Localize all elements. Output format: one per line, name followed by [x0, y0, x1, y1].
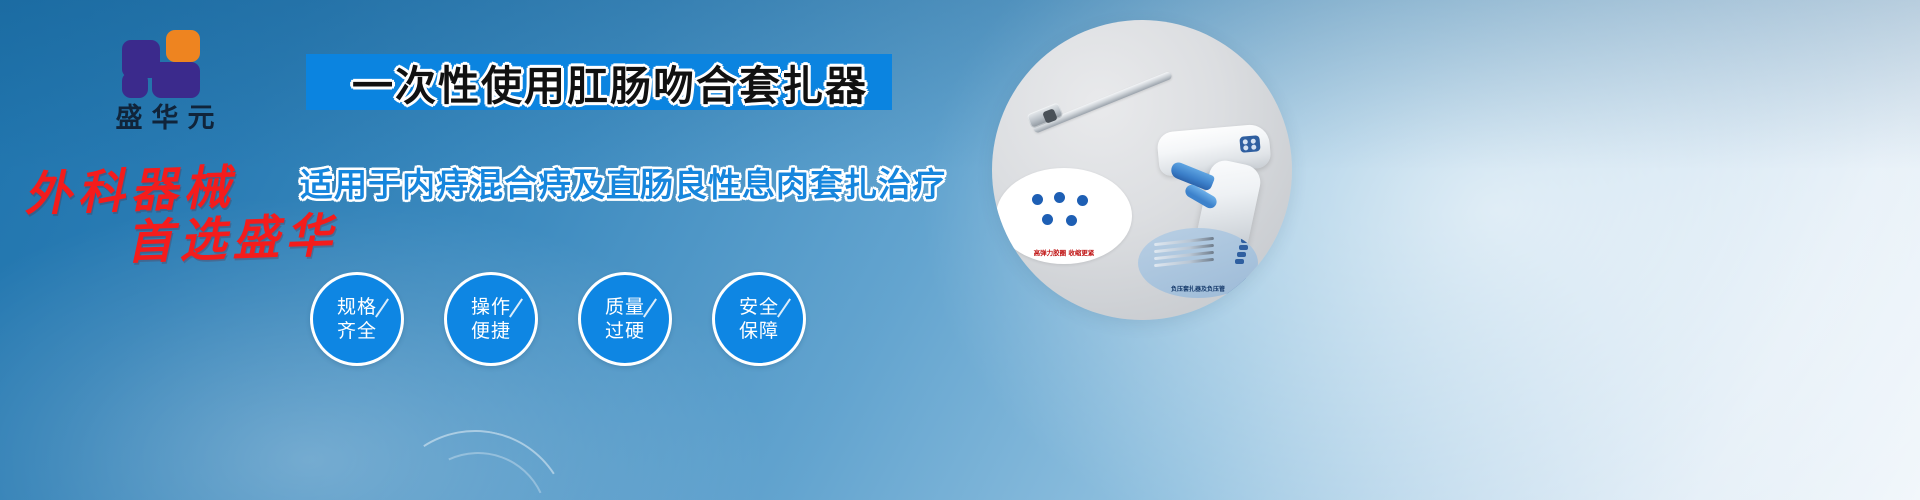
needle-head — [1241, 238, 1250, 243]
callout-needles-caption: 负压套扎器及负压管 — [1138, 284, 1258, 293]
badge-label-line2: 过硬 — [605, 319, 645, 343]
badge-label-line1: 质量 — [605, 295, 645, 319]
feature-badge-list: 规格 齐全 操作 便捷 质量 过硬 安全 保障 — [310, 272, 806, 366]
port-hole — [1251, 144, 1256, 149]
brand-name: 盛华元 — [70, 104, 260, 134]
slash-decoration-icon — [375, 298, 389, 317]
page-subtitle: 适用于内痔混合痔及直肠良性息肉套扎治疗 — [300, 158, 900, 206]
slash-decoration-icon — [643, 298, 657, 317]
slash-decoration-icon — [777, 298, 791, 317]
decorative-arc — [362, 412, 587, 500]
feature-badge-quality[interactable]: 质量 过硬 — [578, 272, 672, 366]
port-hole — [1251, 138, 1256, 143]
rubber-band-dot — [1066, 215, 1077, 226]
needle-rows-icon — [1154, 240, 1242, 268]
rubber-band-dot — [1054, 192, 1065, 203]
logo-square-lower-left — [122, 72, 148, 98]
rubber-band-dot — [1042, 214, 1053, 225]
needle — [1154, 258, 1214, 267]
promo-banner: 盛华元 外科器械 首选盛华 一次性使用肛肠吻合套扎器 适用于内痔混合痔及直肠良性… — [0, 0, 1920, 500]
callout-bands-caption: 高弹力胶圈 收缩更紧 — [996, 247, 1132, 257]
device-shaft — [1033, 71, 1173, 134]
rubber-band-dot — [1077, 195, 1088, 206]
badge-label-line2: 保障 — [739, 319, 779, 343]
callout-needles: 负压套扎器及负压管 — [1138, 228, 1258, 298]
product-photo-content: 高弹力胶圈 收缩更紧 负压套扎器及负压管 — [992, 20, 1292, 320]
product-photo[interactable]: 高弹力胶圈 收缩更紧 负压套扎器及负压管 — [992, 20, 1292, 320]
needle-head — [1239, 245, 1248, 250]
badge-label-line2: 齐全 — [337, 319, 377, 343]
needle-head — [1235, 259, 1244, 264]
badge-label-line1: 操作 — [471, 295, 511, 319]
device-port-icon — [1239, 135, 1260, 153]
port-hole — [1243, 139, 1248, 144]
badge-label-line1: 安全 — [739, 295, 779, 319]
brand-logo-icon — [122, 28, 208, 98]
slash-decoration-icon — [509, 298, 523, 317]
port-hole — [1243, 145, 1248, 150]
feature-badge-specs[interactable]: 规格 齐全 — [310, 272, 404, 366]
callout-rubber-bands: 高弹力胶圈 收缩更紧 — [996, 168, 1132, 264]
logo-square-orange — [166, 30, 200, 62]
needle-head — [1237, 252, 1246, 257]
rubber-band-dot — [1032, 194, 1043, 205]
feature-badge-safety[interactable]: 安全 保障 — [712, 272, 806, 366]
slogan-line-2: 首选盛华 — [125, 196, 339, 272]
background-top-shade — [0, 0, 1920, 170]
rubber-band-dots-icon — [1030, 192, 1102, 232]
badge-label-line2: 便捷 — [471, 319, 511, 343]
callout-anoscope — [1188, 298, 1292, 320]
page-title: 一次性使用肛肠吻合套扎器 — [330, 56, 890, 108]
feature-badge-operation[interactable]: 操作 便捷 — [444, 272, 538, 366]
badge-label-line1: 规格 — [337, 295, 377, 319]
brand-logo[interactable]: 盛华元 — [70, 28, 260, 134]
decorative-arc — [388, 432, 567, 500]
logo-square-lower-right — [152, 62, 200, 98]
